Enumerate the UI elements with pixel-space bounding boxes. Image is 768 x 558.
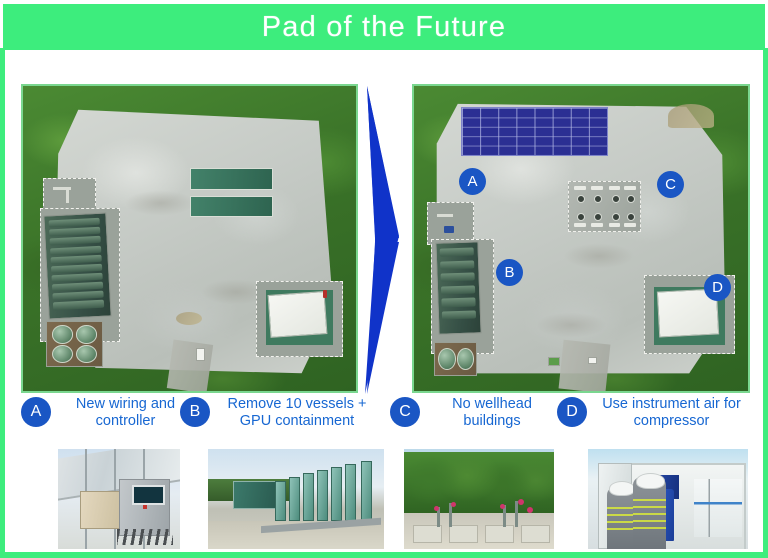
tank-containment xyxy=(434,342,477,376)
caption-c[interactable]: C No wellhead buildings xyxy=(390,396,565,442)
vessel xyxy=(442,297,476,306)
red-valve xyxy=(500,504,505,509)
caption-text-c: No wellhead buildings xyxy=(427,396,557,430)
frame-bottom-border xyxy=(0,552,768,558)
dirt-pile xyxy=(176,312,202,325)
marker-letter: A xyxy=(467,173,477,190)
title-bar: Pad of the Future xyxy=(3,4,765,50)
caption-badge-a: A xyxy=(21,397,51,427)
caption-a[interactable]: A New wiring and controller xyxy=(21,396,201,442)
wellheads-photo xyxy=(404,449,554,549)
controller-photo xyxy=(58,449,180,549)
vessel-row xyxy=(44,213,113,320)
concrete-block xyxy=(413,525,442,543)
parked-equipment xyxy=(548,357,560,366)
hi-vis-vest xyxy=(607,507,634,533)
vessel xyxy=(289,477,300,521)
caption-d[interactable]: D Use instrument air for compressor xyxy=(557,396,757,442)
photo-marker-c[interactable]: C xyxy=(657,171,684,198)
aerial-scene-after: A B C D xyxy=(414,86,748,391)
vessel xyxy=(50,254,102,264)
aerial-scene-before xyxy=(23,86,356,391)
thumbnail-b-vessels[interactable] xyxy=(208,449,384,549)
wellhead xyxy=(612,213,620,221)
caption-badge-c: C xyxy=(390,397,420,427)
caption-b[interactable]: B Remove 10 vessels + GPU containment xyxy=(180,396,385,442)
red-valve xyxy=(527,507,533,513)
wellhead-building xyxy=(190,196,273,217)
vessel xyxy=(441,260,475,269)
vessel xyxy=(331,467,342,521)
well-curb xyxy=(574,186,585,190)
red-valve xyxy=(518,499,524,505)
equipment-berm xyxy=(43,178,96,212)
vessel xyxy=(50,236,102,246)
vessel xyxy=(53,300,105,310)
parked-vehicle xyxy=(196,348,205,361)
marker-letter: B xyxy=(504,264,514,281)
vessel xyxy=(443,310,477,319)
caption-text-a: New wiring and controller xyxy=(58,396,193,430)
vessel xyxy=(50,245,102,255)
hard-hat xyxy=(609,481,635,496)
wellhead-building xyxy=(190,168,273,189)
vessel xyxy=(49,227,101,237)
dirt-berm xyxy=(668,104,714,128)
hmi-touchscreen xyxy=(132,485,165,505)
exhaust-stack xyxy=(323,290,327,298)
access-road xyxy=(166,340,212,393)
caption-text-d: Use instrument air for compressor xyxy=(594,396,749,430)
thumbnail-d-compressor[interactable] xyxy=(588,449,748,549)
page-title: Pad of the Future xyxy=(262,11,507,44)
caption-row: A New wiring and controller B Remove 10 … xyxy=(12,396,756,442)
badge-letter: A xyxy=(31,403,42,421)
pipe-run xyxy=(66,187,69,203)
wiring-conduits xyxy=(117,529,173,545)
badge-letter: B xyxy=(190,403,201,421)
vessel xyxy=(317,470,328,521)
vessel xyxy=(442,285,476,294)
hard-hat xyxy=(636,473,665,489)
wellhead xyxy=(577,213,585,221)
photo-marker-d[interactable]: D xyxy=(704,274,731,301)
photo-marker-b[interactable]: B xyxy=(496,259,523,286)
storage-tank xyxy=(76,325,98,344)
well-curb xyxy=(609,186,620,190)
wellhead-stack xyxy=(515,501,518,527)
vessel xyxy=(441,272,475,281)
marker-letter: D xyxy=(712,279,723,296)
well-curb xyxy=(624,186,635,190)
vessel xyxy=(345,464,356,521)
vessels-photo xyxy=(208,449,384,549)
well-curb xyxy=(591,186,602,190)
hi-vis-vest xyxy=(633,499,667,529)
vessel-row xyxy=(436,241,483,334)
enclosure-panel xyxy=(80,491,123,529)
process-tank xyxy=(233,481,277,509)
vessel xyxy=(52,282,104,292)
storage-tank xyxy=(76,345,98,364)
after-aerial-photo[interactable]: A B C D xyxy=(412,84,750,393)
vessel xyxy=(275,481,286,521)
estop-button xyxy=(143,505,147,509)
instrument-air-photo xyxy=(588,449,748,549)
pipe-run xyxy=(437,214,453,217)
wellhead xyxy=(594,213,602,221)
solar-panel-grid xyxy=(462,108,607,155)
caption-text-b: Remove 10 vessels + GPU containment xyxy=(217,396,377,430)
wellhead xyxy=(627,195,635,203)
well-curb xyxy=(574,223,585,227)
wellhead xyxy=(627,213,635,221)
vessel xyxy=(51,264,103,274)
concrete-block xyxy=(485,525,514,543)
well-curb xyxy=(624,223,635,227)
concrete-block xyxy=(449,525,478,543)
well-curb xyxy=(591,223,602,227)
vessel xyxy=(51,273,103,283)
badge-letter: C xyxy=(399,403,411,421)
before-aerial-photo[interactable] xyxy=(21,84,358,393)
storage-tank xyxy=(52,325,74,344)
frame-left-border xyxy=(0,48,5,558)
vessel xyxy=(440,247,474,256)
wellhead xyxy=(612,195,620,203)
vessel xyxy=(52,291,104,301)
concrete-block xyxy=(521,525,550,543)
open-wellhead-area xyxy=(568,181,641,233)
marker-letter: C xyxy=(665,176,676,193)
compressor-roof xyxy=(268,291,327,338)
parked-equipment xyxy=(588,357,597,364)
solar-panel-array xyxy=(461,107,608,156)
wellhead xyxy=(577,195,585,203)
frame-right-border xyxy=(763,48,768,558)
badge-letter: D xyxy=(566,403,578,421)
photo-marker-a[interactable]: A xyxy=(459,168,486,195)
storage-tank xyxy=(52,345,74,364)
storage-tank xyxy=(457,348,475,370)
red-valve xyxy=(451,502,456,507)
slide-root: Pad of the Future xyxy=(0,0,768,558)
control-cabinet xyxy=(444,226,454,233)
access-road xyxy=(559,340,611,393)
instrument-air-piping xyxy=(694,479,742,537)
thumbnail-a-controller[interactable] xyxy=(58,449,180,549)
red-valve xyxy=(434,506,439,511)
vessel xyxy=(49,218,101,228)
well-curb xyxy=(609,223,620,227)
treeline xyxy=(404,452,554,514)
thumbnail-c-wellheads[interactable] xyxy=(404,449,554,549)
wellhead xyxy=(594,195,602,203)
caption-badge-b: B xyxy=(180,397,210,427)
vessel xyxy=(303,473,314,521)
tank-containment xyxy=(46,321,103,367)
vessel xyxy=(361,461,372,521)
transition-arrow xyxy=(363,86,403,394)
caption-badge-d: D xyxy=(557,397,587,427)
storage-tank xyxy=(438,348,456,370)
